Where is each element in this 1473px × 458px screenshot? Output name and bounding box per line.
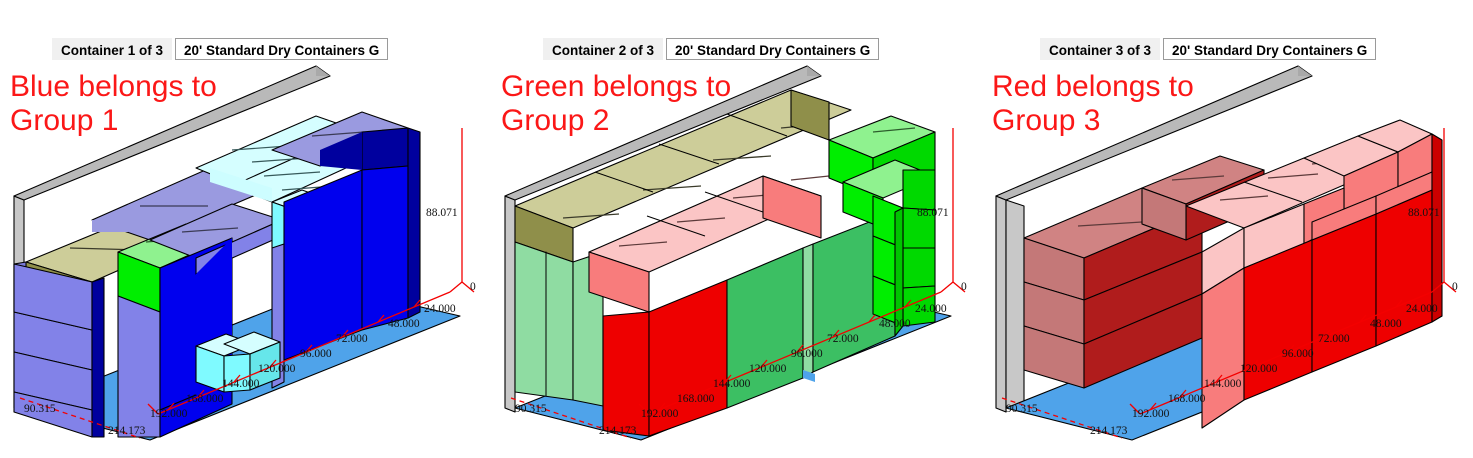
panel-1-svg: 88.071 0 24.000 48.000 72.000 96.000 120… bbox=[0, 0, 491, 458]
axis-tick-24: 24.000 bbox=[915, 303, 947, 315]
box-pink-front-tall bbox=[1202, 268, 1244, 428]
panel-2-svg: 88.071 0 24.000 48.000 72.000 96.000 120… bbox=[491, 0, 982, 458]
box-blue-right-end bbox=[408, 128, 420, 318]
axis-origin-label: 0 bbox=[470, 281, 476, 293]
box-blue-right-2 bbox=[362, 166, 408, 330]
axis-tick-120: 120.000 bbox=[258, 363, 296, 375]
bg-col2-r0 bbox=[903, 170, 935, 210]
axis-tick-72: 72.000 bbox=[336, 333, 368, 345]
axis-tick-96: 96.000 bbox=[300, 348, 332, 360]
axis-origin-label: 0 bbox=[1452, 281, 1458, 293]
axis-tick-48: 48.000 bbox=[388, 318, 420, 330]
box-greenlight-1 bbox=[515, 242, 573, 400]
panel-2-diagram: 88.071 0 24.000 48.000 72.000 96.000 120… bbox=[491, 0, 982, 458]
panel-3-diagram: 88.071 0 24.000 48.000 72.000 96.000 120… bbox=[982, 0, 1473, 458]
axis-tick-120: 120.000 bbox=[749, 363, 787, 375]
axis-tick-192: 192.000 bbox=[150, 408, 188, 420]
axis-tick-168: 168.000 bbox=[186, 393, 224, 405]
box-pink-right-face bbox=[763, 176, 821, 238]
axis-tick-144: 144.000 bbox=[713, 378, 751, 390]
axis-length-end: 214.173 bbox=[1090, 425, 1128, 437]
axis-tick-96: 96.000 bbox=[1282, 348, 1314, 360]
container-panel-2: Container 2 of 3 20' Standard Dry Contai… bbox=[491, 0, 982, 458]
axis-width-label: 90.315 bbox=[515, 403, 547, 415]
container-left-wall bbox=[996, 196, 1006, 412]
origin-tick-a bbox=[941, 282, 953, 292]
container-left-wall bbox=[505, 196, 515, 412]
axis-width-label: 90.315 bbox=[1006, 403, 1038, 415]
container-back-wall bbox=[1006, 200, 1024, 408]
axis-tick-192: 192.000 bbox=[641, 408, 679, 420]
axis-width-label: 90.315 bbox=[24, 403, 56, 415]
box-red-end-cap bbox=[1432, 134, 1442, 322]
box-red-2 bbox=[1312, 214, 1376, 372]
axis-tick-24: 24.000 bbox=[424, 303, 456, 315]
container-panel-1: Container 1 of 3 20' Standard Dry Contai… bbox=[0, 0, 491, 458]
bg-col2-r2 bbox=[903, 248, 935, 288]
axis-tick-120: 120.000 bbox=[1240, 363, 1278, 375]
axis-tick-144: 144.000 bbox=[222, 378, 260, 390]
box-blue-right-1 bbox=[284, 170, 362, 360]
bg-edge bbox=[895, 208, 903, 336]
axis-tick-48: 48.000 bbox=[879, 318, 911, 330]
axis-tick-96: 96.000 bbox=[791, 348, 823, 360]
panel-1-diagram: 88.071 0 24.000 48.000 72.000 96.000 120… bbox=[0, 0, 491, 458]
axis-tick-144: 144.000 bbox=[1204, 378, 1242, 390]
container-plan-stage: Container 1 of 3 20' Standard Dry Contai… bbox=[0, 0, 1473, 458]
axis-length-end: 214.173 bbox=[108, 425, 146, 437]
container-panel-3: Container 3 of 3 20' Standard Dry Contai… bbox=[982, 0, 1473, 458]
box-navy-corner bbox=[362, 128, 408, 170]
axis-origin-label: 0 bbox=[961, 281, 967, 293]
peri-fill bbox=[92, 220, 128, 232]
axis-tick-24: 24.000 bbox=[1406, 303, 1438, 315]
axis-height-label: 88.071 bbox=[917, 207, 949, 219]
axis-height-label: 88.071 bbox=[1408, 207, 1440, 219]
origin-tick-a bbox=[450, 282, 462, 292]
axis-tick-72: 72.000 bbox=[1318, 333, 1350, 345]
axis-tick-168: 168.000 bbox=[1168, 393, 1206, 405]
box-navy-strip bbox=[92, 278, 104, 437]
axis-tick-192: 192.000 bbox=[1132, 408, 1170, 420]
axis-length-end: 214.173 bbox=[599, 425, 637, 437]
axis-tick-168: 168.000 bbox=[677, 393, 715, 405]
panel-3-svg: 88.071 0 24.000 48.000 72.000 96.000 120… bbox=[982, 0, 1473, 458]
axis-tick-72: 72.000 bbox=[827, 333, 859, 345]
axis-height-label: 88.071 bbox=[426, 207, 458, 219]
axis-tick-48: 48.000 bbox=[1370, 318, 1402, 330]
box-red-1 bbox=[1244, 240, 1312, 400]
